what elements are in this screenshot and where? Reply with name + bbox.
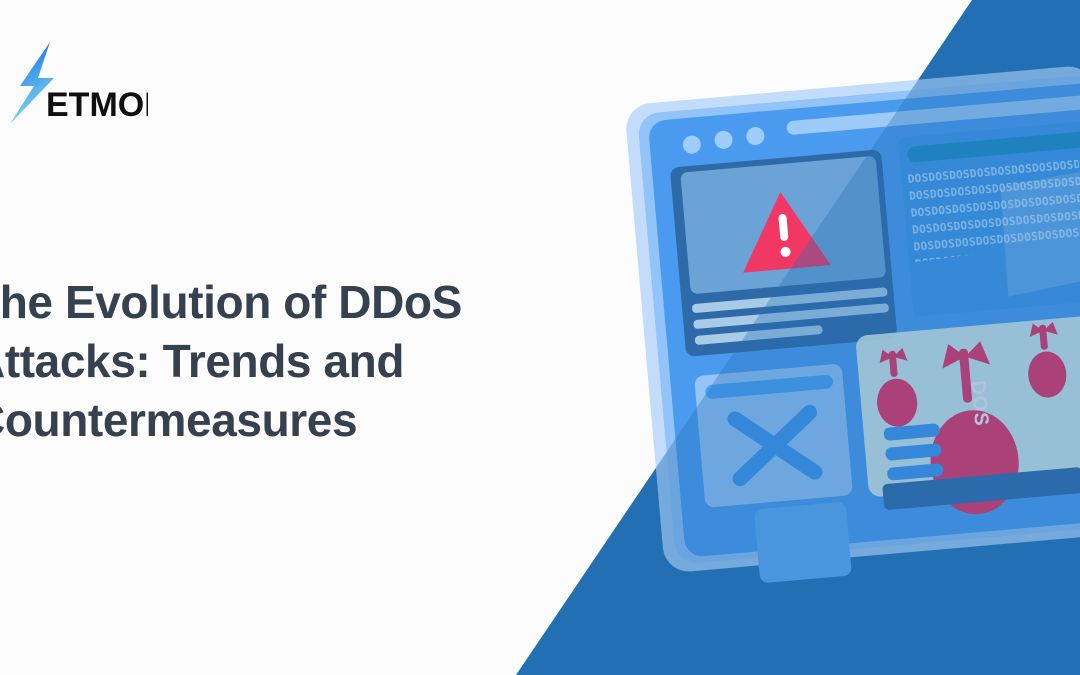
- log-sheen: [998, 172, 1080, 297]
- alert-warning-card: [670, 149, 898, 357]
- blocked-cross-card: [694, 363, 853, 507]
- page-title: The Evolution of DDoS Attacks: Trends an…: [0, 273, 592, 450]
- ddos-browser-window-illustration: DOSDOSDOSDOSDOSDOSDOSDOSDOSDOSDOS DOSDOS…: [620, 0, 1080, 640]
- logo-text-right: ETMON: [46, 86, 148, 124]
- window-lower-block: [754, 502, 852, 584]
- poster-canvas: DOSDOSDOSDOSDOSDOSDOSDOSDOSDOSDOS DOSDOS…: [0, 0, 1080, 675]
- bomb-dos-label: DOS: [967, 380, 993, 428]
- page-title-line-2: Attacks: Trends and: [0, 332, 592, 391]
- dos-log-panel: DOSDOSDOSDOSDOSDOSDOSDOSDOSDOSDOS DOSDOS…: [898, 117, 1080, 322]
- fastnetmon-logo[interactable]: ST ETMON: [0, 40, 148, 126]
- page-title-line-1: The Evolution of DDoS: [0, 273, 592, 332]
- page-title-line-3: Countermeasures: [0, 391, 592, 450]
